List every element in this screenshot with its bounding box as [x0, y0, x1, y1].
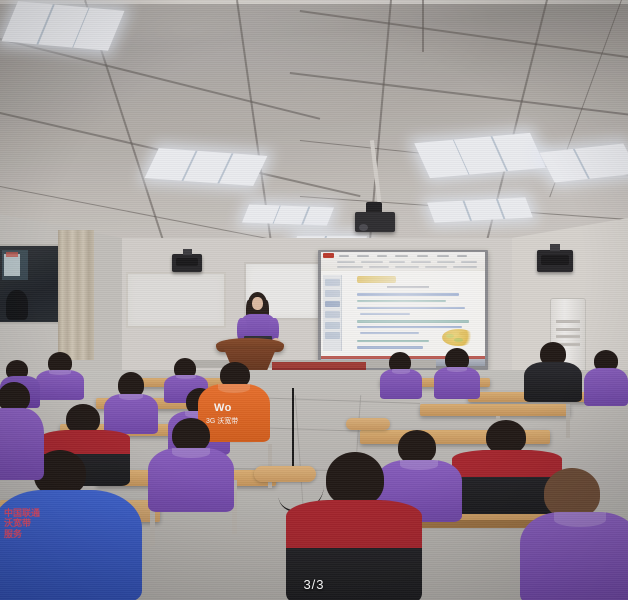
shirt-collar [447, 367, 467, 372]
attendee-shirt [434, 367, 480, 399]
wall-speaker-left [172, 254, 202, 272]
attendee-dark-2 [524, 342, 582, 400]
shirt-collar [49, 370, 70, 375]
attendee-purple-8 [148, 418, 234, 510]
page-indicator: 3/3 [0, 577, 628, 592]
chair [346, 418, 390, 430]
desk-leg [566, 404, 570, 438]
unicom-wo-logo: Wo [214, 402, 232, 414]
attendee-head [172, 418, 210, 452]
shirt-collar [176, 375, 195, 379]
attendee-shirt [148, 448, 234, 512]
shirt-collar [218, 384, 250, 393]
attendee-shirt [0, 408, 44, 480]
shirt-collar [554, 512, 607, 527]
attendee-head [486, 420, 526, 454]
window-poster-red [6, 252, 18, 257]
window [0, 244, 64, 324]
shirt-collar [392, 369, 410, 374]
presenter-face [252, 297, 263, 310]
attendee-head [544, 468, 600, 518]
vertical-curtain [58, 230, 94, 360]
speaker-grill [541, 255, 568, 265]
classroom-photo: Wo 3G 沃宽带 中国联通 沃宽带 服务 [0, 0, 628, 600]
speaker-bracket [183, 249, 192, 255]
projector-lens [359, 224, 368, 231]
blue-shirt-print: 中国联通 沃宽带 服务 [4, 508, 40, 539]
shirt-collar [172, 448, 210, 458]
wall-speaker-right [537, 250, 573, 272]
student-desk [420, 404, 570, 416]
shirt-collar [119, 394, 143, 400]
whiteboard-left [126, 272, 226, 328]
ac-vent [556, 320, 580, 323]
attendee-shirt [584, 368, 628, 406]
jacket-red-band [286, 500, 422, 548]
attendee-shirt [380, 369, 422, 399]
speaker-bracket [550, 244, 560, 251]
attendee-purple-4 [434, 348, 480, 398]
attendee-purple-3 [380, 352, 422, 398]
attendee-purple-5 [584, 350, 628, 404]
projector [355, 212, 395, 232]
ac-vent [556, 328, 580, 331]
attendee-head [326, 452, 384, 506]
speaker-grill [176, 258, 199, 266]
ceiling-grid-line [422, 0, 424, 52]
ac-vent [556, 335, 580, 338]
silhouette-in-window [6, 290, 28, 320]
attendee-jacket [524, 362, 582, 402]
fluorescent-panel-3 [242, 205, 334, 226]
attendee-purple-edge [0, 382, 44, 478]
window-poster [4, 254, 20, 276]
